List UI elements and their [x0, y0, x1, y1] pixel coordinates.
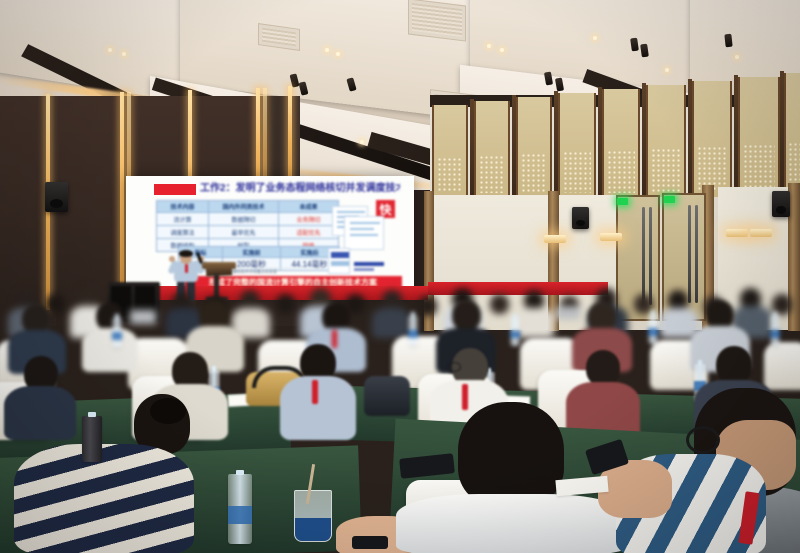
- water-bottle: [228, 474, 252, 544]
- eyeglasses: [686, 426, 720, 454]
- wall-speaker-left: [45, 182, 68, 212]
- wall-sconce-c: [726, 229, 748, 237]
- exit-light-left: [617, 198, 628, 205]
- slide-table-technology: 技术内容 国内外同类技术 本成果 流计算 数据隔切 业务隔切 调度算法 最早优先…: [156, 200, 339, 252]
- thermos-bottle: [82, 416, 102, 462]
- exit-light-right: [664, 196, 675, 203]
- attendee-head-whiteshirt: [458, 402, 564, 506]
- slide-thumbnail-chart: [328, 248, 350, 274]
- wall-sconce-b: [600, 233, 622, 241]
- table-cell: 流计算: [157, 213, 209, 226]
- table-cell: 数据隔切: [209, 213, 279, 226]
- notebook-dark: [399, 453, 455, 479]
- slide-title-tag: [154, 184, 196, 195]
- attendee-white-shirt: [396, 494, 628, 553]
- table-cell-highlight: 适配优先: [279, 226, 339, 239]
- table-header-cell: 本成果: [279, 201, 339, 213]
- audience-foreground: [0, 360, 800, 553]
- table-row: 流计算 数据隔切 业务隔切: [157, 213, 339, 226]
- podium-top: [202, 262, 236, 269]
- wall-sconce-a: [544, 235, 566, 243]
- slide-thumbnail-doc-b: [344, 216, 384, 250]
- wall-speaker-right-b: [772, 191, 790, 217]
- conference-hall-photo: 工作2：发明了业务态程网络核切并发调度技术 快 技术内容 国内外同类技术 本成果…: [0, 0, 800, 553]
- attendee-striped-top: [14, 444, 194, 553]
- slide-title: 工作2：发明了业务态程网络核切并发调度技术: [200, 182, 400, 195]
- table-row: 调度算法 最早优先 适配优先: [157, 226, 339, 239]
- table-header-cell: 国内外同类技术: [209, 201, 279, 213]
- wall-speaker-right-a: [572, 207, 589, 229]
- wall-sconce-d: [750, 229, 772, 237]
- table-header-cell: 技术内容: [157, 201, 209, 213]
- table-cell: 最早优先: [209, 226, 279, 239]
- table-header-cell: 实施前: [223, 247, 281, 258]
- bubble-tea-cup[interactable]: [294, 490, 332, 542]
- table-cell: 调度算法: [157, 226, 209, 239]
- wristwatch: [352, 536, 388, 549]
- table-cell-highlight: 业务隔切: [279, 213, 339, 226]
